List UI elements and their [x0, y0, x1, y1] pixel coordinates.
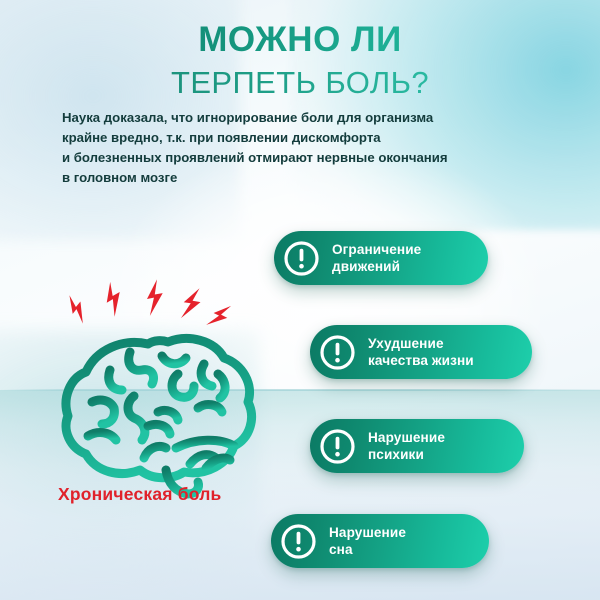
- consequence-pill-3[interactable]: Нарушение сна: [271, 514, 489, 568]
- headline-block: МОЖНО ЛИ ТЕРПЕТЬ БОЛЬ?: [0, 22, 600, 100]
- lightning-bolt-icon: [205, 300, 234, 332]
- consequence-pill-0[interactable]: Ограничение движений: [274, 231, 488, 285]
- title-line-2: ТЕРПЕТЬ БОЛЬ?: [0, 65, 600, 101]
- consequence-pill-2[interactable]: Нарушение психики: [310, 419, 524, 473]
- exclamation-circle-icon: [319, 428, 356, 465]
- consequence-label-3: Нарушение сна: [329, 524, 406, 559]
- lead-line-1: Наука доказала, что игнорирование боли д…: [62, 108, 544, 128]
- lead-paragraph: Наука доказала, что игнорирование боли д…: [62, 108, 544, 188]
- brain-illustration: [48, 278, 278, 503]
- lightning-bolt-icon: [146, 279, 164, 316]
- pain-bolts-group: [62, 279, 234, 332]
- brain-outline-paths: [66, 339, 252, 494]
- brain-caption: Хроническая боль: [58, 484, 298, 505]
- consequence-pill-1[interactable]: Ухудшение качества жизни: [310, 325, 532, 379]
- infographic-canvas: МОЖНО ЛИ ТЕРПЕТЬ БОЛЬ? Наука доказала, ч…: [0, 0, 600, 600]
- lightning-bolt-icon: [62, 293, 92, 325]
- lead-line-3: и болезненных проявлений отмирают нервны…: [62, 148, 544, 168]
- lead-line-4: в головном мозге: [62, 168, 544, 188]
- exclamation-circle-icon: [319, 334, 356, 371]
- consequence-label-1: Ухудшение качества жизни: [368, 335, 474, 370]
- exclamation-circle-icon: [280, 523, 317, 560]
- consequence-label-2: Нарушение психики: [368, 429, 445, 464]
- brain-outline-icon: [48, 278, 278, 503]
- title-line-1: МОЖНО ЛИ: [0, 22, 600, 59]
- lightning-bolt-icon: [100, 280, 128, 318]
- lead-line-2: крайне вредно, т.к. при появлении диском…: [62, 128, 544, 148]
- lightning-bolt-icon: [179, 285, 204, 322]
- consequence-label-0: Ограничение движений: [332, 241, 421, 276]
- exclamation-circle-icon: [283, 240, 320, 277]
